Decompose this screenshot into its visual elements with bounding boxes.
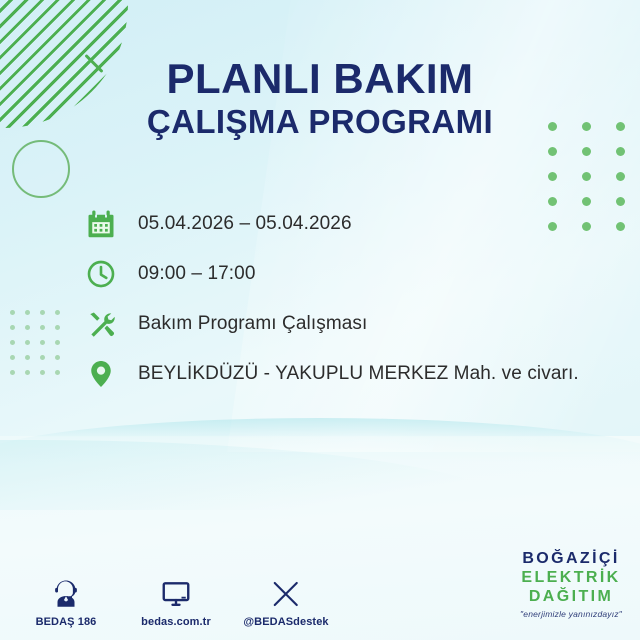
maintenance-details-list: 05.04.2026 – 05.04.2026 09:00 – 17:00 Ba…: [84, 200, 610, 400]
tools-icon: [84, 307, 118, 341]
detail-row-date: 05.04.2026 – 05.04.2026: [84, 200, 610, 248]
contact-call-center-label: BEDAŞ 186: [36, 616, 97, 628]
poster-footer: BEDAŞ 186 bedas.com.tr: [0, 544, 640, 640]
detail-row-location: BEYLİKDÜZÜ - YAKUPLU MERKEZ Mah. ve civa…: [84, 350, 610, 398]
brand-tagline: "enerjimizle yanınızdayız": [520, 610, 622, 619]
detail-time-text: 09:00 – 17:00: [138, 263, 256, 285]
dot-grid-left-decoration: [10, 310, 70, 385]
detail-row-time: 09:00 – 17:00: [84, 250, 610, 298]
contact-x-social-label: @BEDASdestek: [243, 616, 328, 628]
brand-line-dagitim: DAĞITIM: [520, 589, 622, 605]
clock-icon: [84, 257, 118, 291]
poster-header: PLANLI BAKIM ÇALIŞMA PROGRAMI: [0, 58, 640, 142]
page-subtitle: ÇALIŞMA PROGRAMI: [60, 103, 580, 142]
contact-website[interactable]: bedas.com.tr: [132, 575, 220, 628]
circle-outline-decoration: [12, 140, 70, 198]
contact-website-label: bedas.com.tr: [141, 616, 211, 628]
detail-date-text: 05.04.2026 – 05.04.2026: [138, 213, 352, 235]
contact-call-center[interactable]: BEDAŞ 186: [22, 575, 110, 628]
detail-work-type-text: Bakım Programı Çalışması: [138, 313, 367, 335]
detail-row-work-type: Bakım Programı Çalışması: [84, 300, 610, 348]
detail-location-text: BEYLİKDÜZÜ - YAKUPLU MERKEZ Mah. ve civa…: [138, 363, 579, 385]
monitor-icon: [161, 575, 191, 609]
page-title: PLANLI BAKIM: [60, 58, 580, 101]
contact-x-social[interactable]: @BEDASdestek: [242, 575, 330, 628]
calendar-icon: [84, 207, 118, 241]
brand-line-bogazici: BOĞAZİÇİ: [520, 551, 622, 567]
bogazici-elektrik-dagitim-logo: BOĞAZİÇİ ELEKTRİK DAĞITIM "enerjimizle y…: [520, 551, 622, 619]
planned-maintenance-poster: PLANLI BAKIM ÇALIŞMA PROGRAMI 05: [0, 0, 640, 640]
x-social-icon: [271, 575, 301, 609]
contact-channels: BEDAŞ 186 bedas.com.tr: [22, 575, 330, 628]
location-pin-icon: [84, 357, 118, 391]
support-agent-icon: [51, 575, 81, 609]
brand-line-elektrik: ELEKTRİK: [520, 570, 622, 586]
